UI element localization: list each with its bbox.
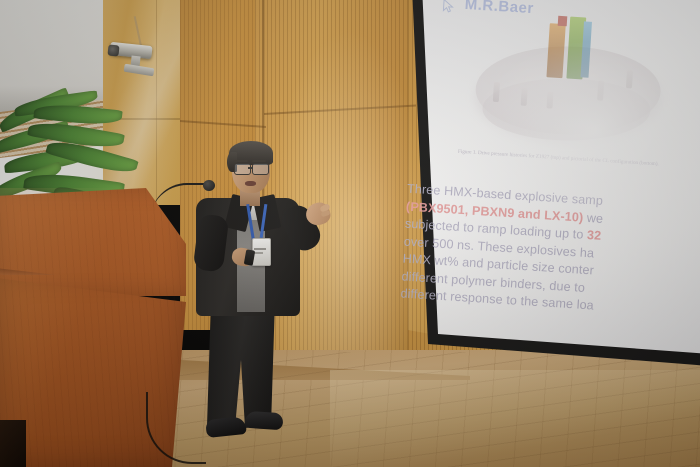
glasses-lens-right bbox=[252, 163, 269, 175]
apparatus-color-bars bbox=[546, 15, 598, 80]
floor-reflection bbox=[330, 370, 700, 467]
presenter-shoe-right bbox=[244, 411, 283, 431]
microphone-icon bbox=[203, 180, 215, 191]
presenter-eyebrow-right bbox=[252, 160, 266, 162]
presenter-mouth bbox=[245, 181, 256, 186]
glasses-bridge bbox=[248, 167, 253, 169]
badge-text-line-2 bbox=[254, 252, 263, 254]
figure-caption: Figure 1. Drive pressure histories for Z… bbox=[433, 146, 683, 171]
camera-lens-icon bbox=[107, 44, 119, 56]
slide-body-text: Three HMX-based explosive samp (PBX9501,… bbox=[400, 181, 700, 322]
slide-content: M.R.Baer Figure 1. Drive pressure histor… bbox=[381, 0, 700, 374]
slide-line-3-highlight: 32 bbox=[587, 228, 602, 243]
badge-text-line bbox=[254, 248, 266, 250]
glasses-icon bbox=[234, 163, 251, 175]
slide-title: M.R.Baer bbox=[464, 0, 534, 17]
dark-object-left bbox=[0, 420, 26, 467]
presenter-eyebrow-left bbox=[234, 160, 248, 162]
photo-scene: M.R.Baer Figure 1. Drive pressure histor… bbox=[0, 0, 700, 467]
slide-line-2-suffix: we bbox=[583, 210, 604, 225]
